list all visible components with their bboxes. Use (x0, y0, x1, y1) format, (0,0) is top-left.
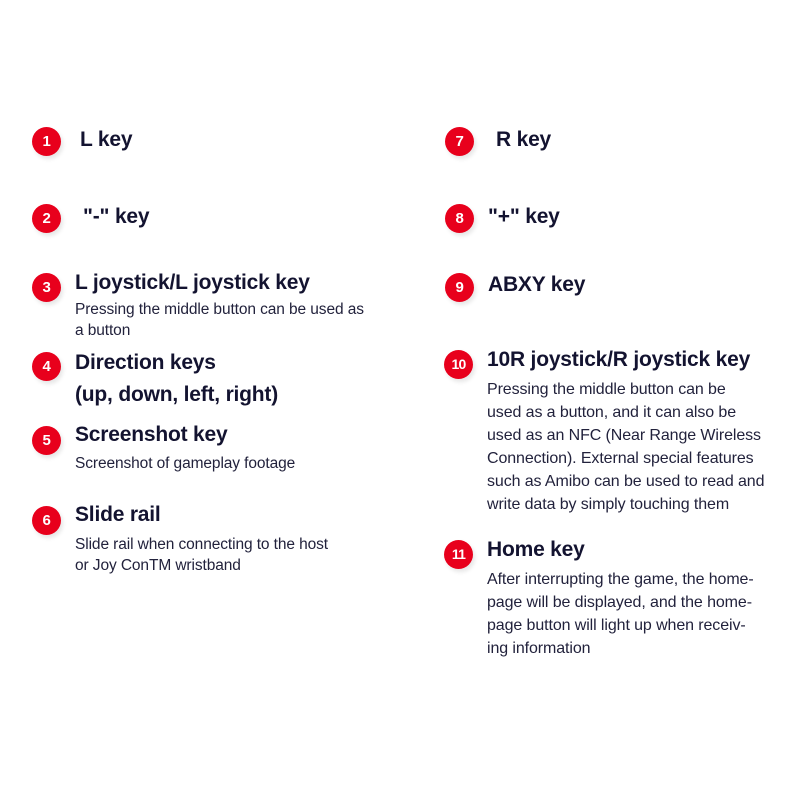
legend-badge-6: 6 (32, 506, 61, 535)
legend-title-5: Screenshot key (75, 421, 420, 449)
legend-desc-11: After interrupting the game, the home- p… (487, 568, 800, 660)
legend-badge-7: 7 (445, 127, 474, 156)
legend-desc-5: Screenshot of gameplay footage (75, 453, 420, 474)
legend-badge-1: 1 (32, 127, 61, 156)
legend-badge-5: 5 (32, 426, 61, 455)
legend-title-1: L key (80, 126, 410, 154)
legend-desc-3: Pressing the middle button can be used a… (75, 299, 420, 341)
legend-badge-3: 3 (32, 273, 61, 302)
legend-badge-9: 9 (445, 273, 474, 302)
legend-title-3: L joystick/L joystick key (75, 269, 420, 297)
legend-title-8: "+" key (488, 203, 788, 231)
legend-title-4: Direction keys (up, down, left, right) (75, 347, 420, 411)
legend-title-7: R key (496, 126, 796, 154)
legend-badge-4: 4 (32, 352, 61, 381)
legend-title-9: ABXY key (488, 271, 788, 299)
legend-badge-2: 2 (32, 204, 61, 233)
legend-desc-6: Slide rail when connecting to the host o… (75, 534, 420, 576)
legend-title-6: Slide rail (75, 501, 420, 529)
legend-title-2: "-" key (83, 203, 413, 231)
legend-panel: 1 L key 2 "-" key 3 L joystick/L joystic… (0, 0, 800, 800)
legend-badge-8: 8 (445, 204, 474, 233)
legend-badge-10: 10 (444, 350, 473, 379)
legend-badge-11: 11 (444, 540, 473, 569)
legend-title-10: 10R joystick/R joystick key (487, 346, 800, 374)
legend-title-11: Home key (487, 536, 800, 564)
legend-desc-10: Pressing the middle button can be used a… (487, 378, 800, 516)
